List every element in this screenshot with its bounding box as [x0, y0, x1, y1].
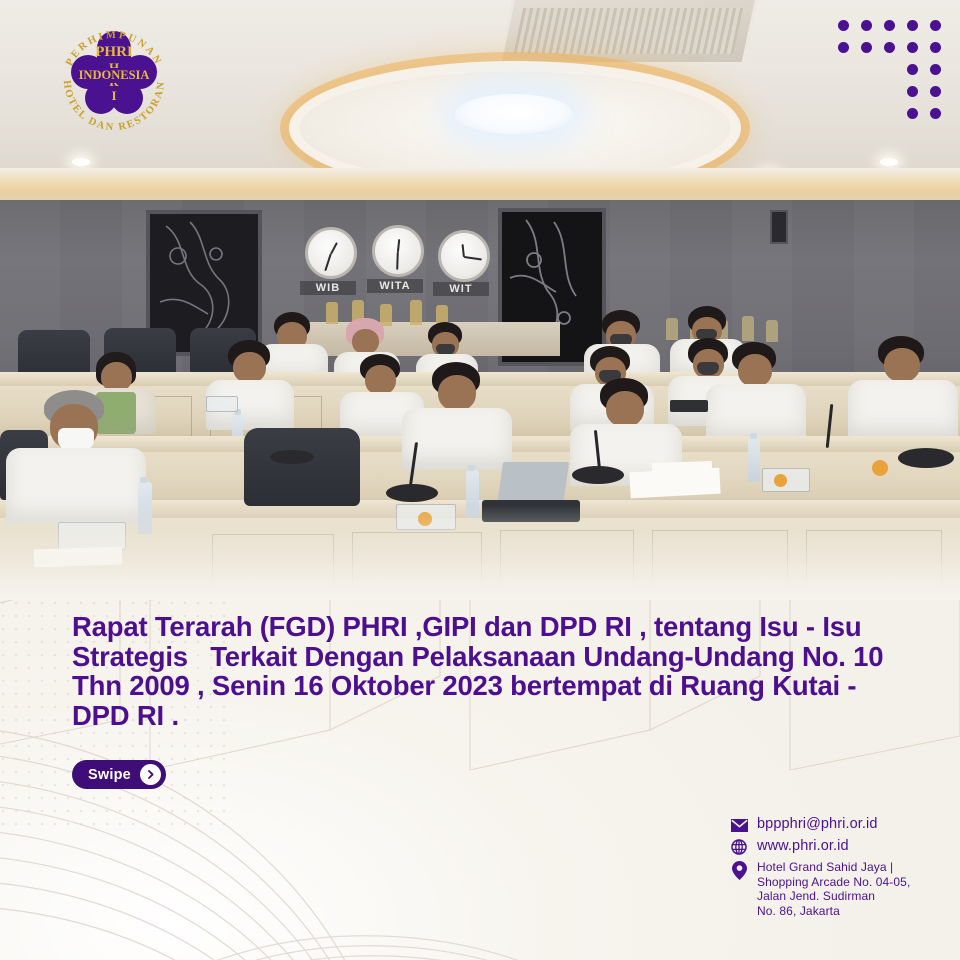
ac-vent-icon	[498, 0, 758, 65]
contact-website-text: www.phri.or.id	[757, 838, 849, 855]
phri-logo: PHRI H R I INDONESIA PERHIMPUNAN HOTEL D…	[48, 14, 180, 138]
logo-center-text: INDONESIA	[79, 68, 150, 82]
globe-icon	[730, 838, 748, 856]
contact-website-row[interactable]: www.phri.or.id	[730, 838, 950, 856]
swipe-button-label: Swipe	[88, 767, 131, 783]
page-title: Rapat Terarah (FGD) PHRI ,GIPI dan DPD R…	[72, 612, 902, 730]
dot-grid	[838, 20, 942, 120]
office-chair	[244, 428, 360, 506]
clock-label-wita: WITA	[367, 279, 423, 293]
wall-clock-wit	[438, 230, 490, 282]
svg-text:PHRI: PHRI	[95, 44, 133, 60]
contact-address-text: Hotel Grand Sahid Jaya | Shopping Arcade…	[757, 860, 910, 918]
wall-art-far-right	[770, 210, 788, 244]
social-post-card: WIB WITA WIT	[0, 0, 960, 960]
ceiling-lamp	[455, 94, 573, 134]
wall-clock-wib	[305, 227, 357, 279]
photo-bottom-fade	[0, 505, 960, 600]
svg-text:I: I	[111, 88, 116, 103]
contact-info: bppphri@phri.or.id www.phri.or.id Hotel …	[730, 816, 950, 922]
swipe-button[interactable]: Swipe	[72, 760, 166, 789]
clock-label-wit: WIT	[433, 282, 489, 296]
wall-clock-wita	[372, 225, 424, 277]
contact-email-row[interactable]: bppphri@phri.or.id	[730, 816, 950, 834]
email-icon	[730, 816, 748, 834]
clock-label-wib: WIB	[300, 281, 356, 295]
contact-email-text: bppphri@phri.or.id	[757, 816, 878, 833]
contact-address-row: Hotel Grand Sahid Jaya | Shopping Arcade…	[730, 860, 950, 918]
location-pin-icon	[730, 861, 748, 879]
chevron-right-icon	[140, 764, 161, 785]
